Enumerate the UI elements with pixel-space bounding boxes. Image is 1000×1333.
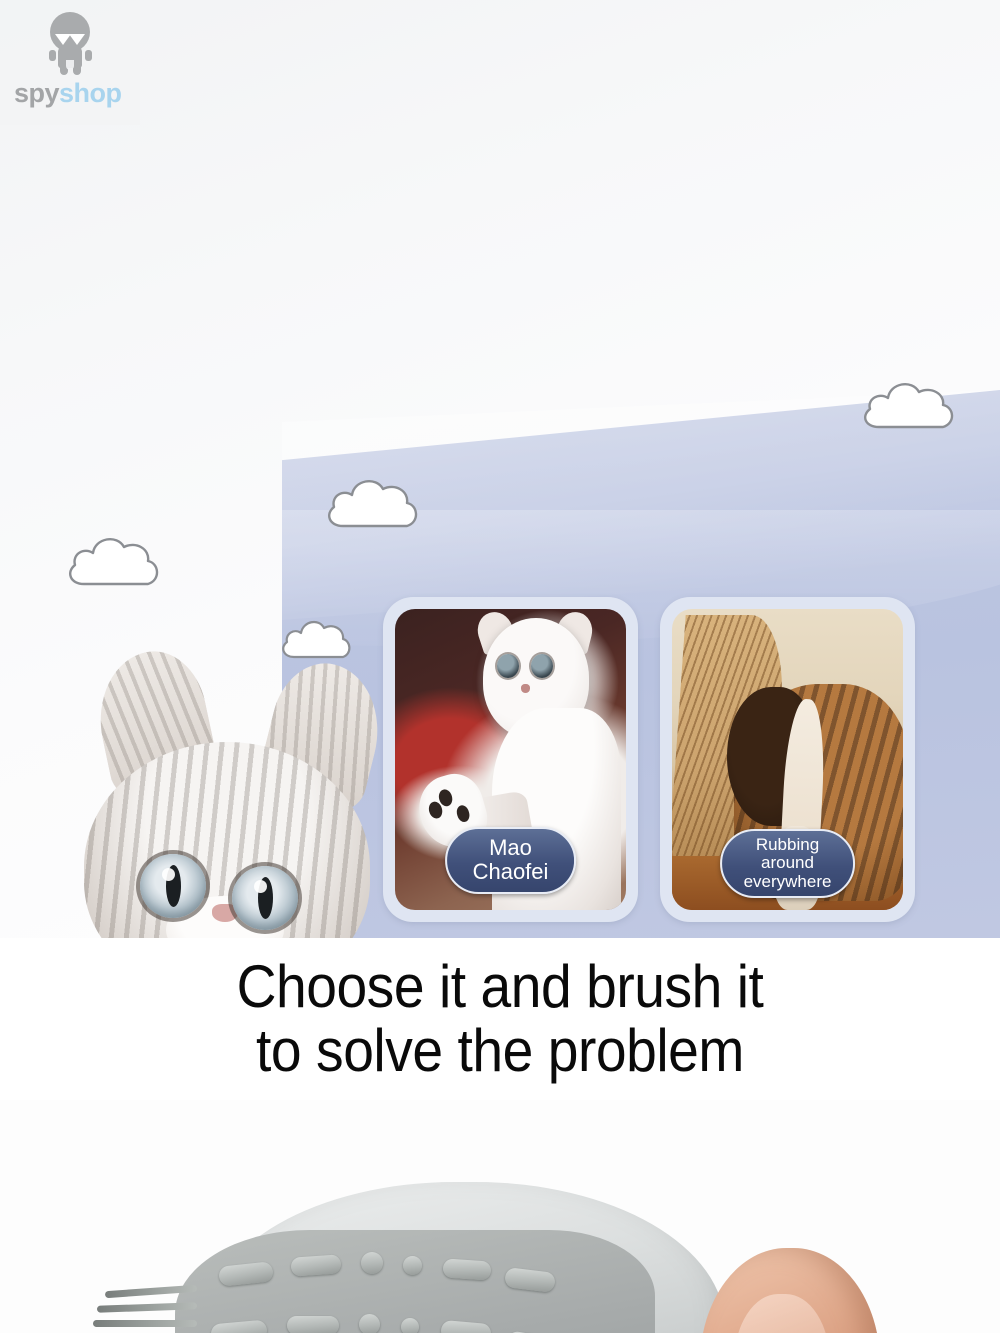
brand-word-shop: shop <box>59 78 122 108</box>
photo-caption-badge: Rubbing around everywhere <box>720 829 856 898</box>
peeking-kitten <box>62 680 392 938</box>
cloud-left-outer-icon <box>62 528 166 596</box>
thumbnail <box>734 1294 830 1333</box>
hero-banner: Mao Chaofei Rubbing around everywhere <box>0 0 1000 938</box>
brush-nub <box>361 1252 383 1274</box>
cat-paw-pad <box>455 803 472 823</box>
brush-nub <box>403 1256 422 1275</box>
mascot-arm-right <box>85 50 92 61</box>
cloud-panel-top-icon <box>322 472 426 538</box>
brush-nub <box>210 1320 268 1333</box>
mascot-eye-right <box>69 34 85 45</box>
brand-wordmark: spyshop <box>14 80 122 107</box>
brush-bristle <box>105 1285 197 1298</box>
brand-word-spy: spy <box>14 78 59 108</box>
brush-nub <box>218 1261 274 1287</box>
mascot-leg-gap <box>66 60 74 70</box>
brush-nub <box>442 1258 491 1280</box>
spyshop-watermark: spyshop <box>0 0 140 125</box>
kitten-eye-right <box>232 866 298 930</box>
photo-card-rubbing-around[interactable]: Rubbing around everywhere <box>660 597 915 922</box>
brush-nub <box>287 1316 339 1333</box>
brush-nub <box>401 1318 419 1333</box>
cat-photo-rubbing-cat: Rubbing around everywhere <box>672 609 903 910</box>
brush-silicone-pad <box>175 1230 655 1333</box>
brush-nub <box>504 1267 556 1293</box>
mascot-arm-left <box>49 50 56 61</box>
brush-bristle <box>97 1302 197 1312</box>
brush-nub <box>440 1320 492 1333</box>
cat-eye-left <box>497 654 519 678</box>
mascot-leg-right <box>73 64 81 75</box>
cat-photo-white-cat: Mao Chaofei <box>395 609 626 910</box>
brush-nub <box>359 1314 380 1333</box>
photo-card-mao-chaofei[interactable]: Mao Chaofei <box>383 597 638 922</box>
hand-thumb <box>700 1248 880 1333</box>
product-photo <box>0 1100 1000 1333</box>
cloud-top-right-icon <box>858 376 962 438</box>
photo-caption-badge: Mao Chaofei <box>445 827 577 894</box>
brush-nub <box>290 1254 341 1276</box>
cloud-panel-left-icon <box>278 616 356 666</box>
kitten-eye-left <box>140 854 206 918</box>
product-detail-page: Mao Chaofei Rubbing around everywhere <box>0 0 1000 1333</box>
photo-card-list: Mao Chaofei Rubbing around everywhere <box>383 597 938 922</box>
brush-bristle <box>93 1320 197 1327</box>
spy-mascot-icon <box>45 12 95 74</box>
page-headline: Choose it and brush it to solve the prob… <box>40 955 960 1083</box>
